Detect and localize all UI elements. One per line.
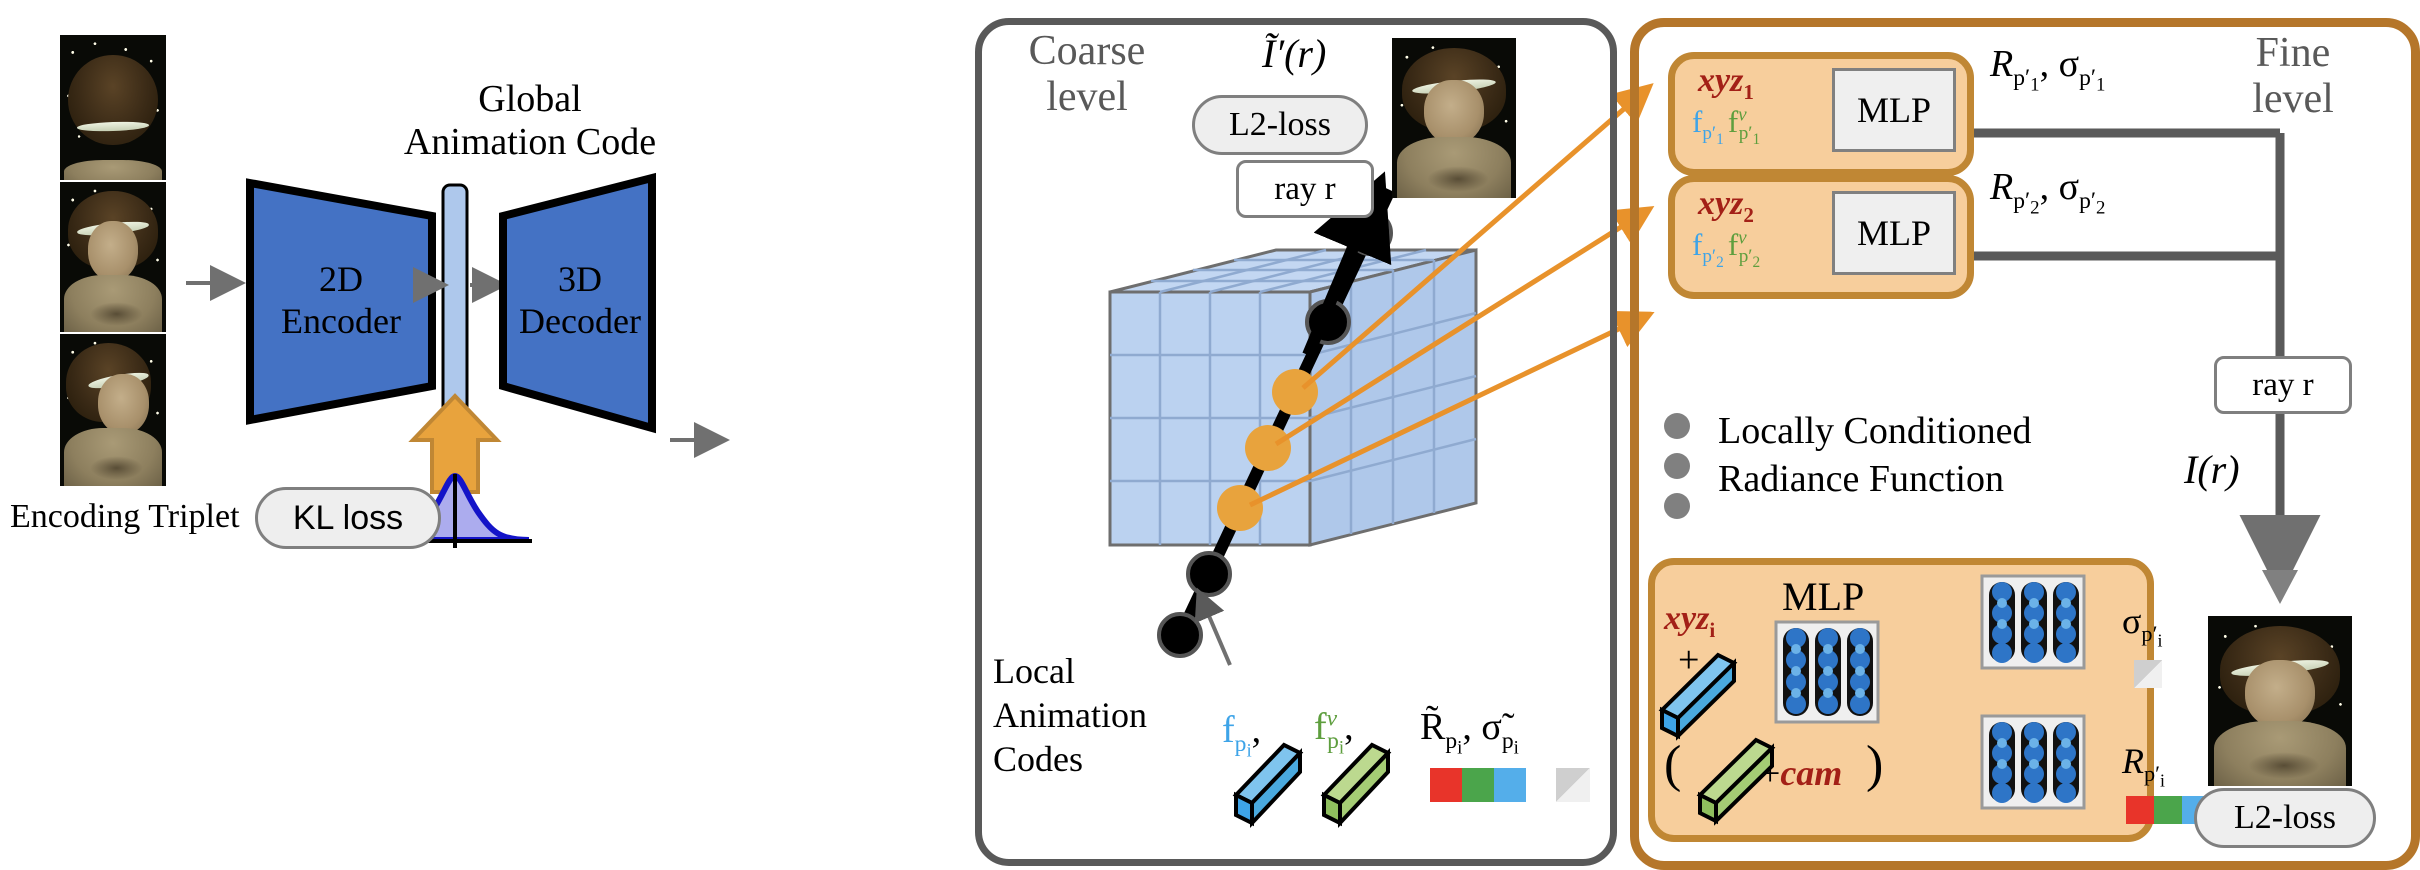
encoding-triplet-image-1: [60, 35, 166, 180]
fine-output-image: [2208, 616, 2352, 786]
encoder-line-1: 2D: [250, 258, 432, 300]
detail-radiance-output-label: Rp′i: [2122, 740, 2165, 792]
fine-card-1-features: fp′1fvp′1: [1692, 104, 1760, 149]
detail-mlp-title: MLP: [1782, 573, 1864, 620]
coarse-ray-box[interactable]: ray r: [1236, 160, 1374, 218]
lcrf-line-2: Radiance Function: [1718, 456, 2031, 504]
lcrf-line-1: Locally Conditioned: [1718, 408, 2031, 456]
density-sigma-swatch: [1556, 768, 1590, 802]
kl-loss-badge[interactable]: KL loss: [255, 487, 441, 549]
decoder-line-1: 3D: [505, 258, 655, 300]
feature-fv-symbol: fvpi,: [1314, 705, 1354, 759]
figure-canvas: Encoding Triplet: [0, 0, 2420, 870]
local-animation-codes-label: Local Animation Codes: [993, 650, 1147, 782]
detail-sigma-output-label: σp′i: [2122, 600, 2162, 652]
feature-f-symbol: fpi,: [1222, 708, 1261, 762]
radiance-rgb-swatch: [1430, 768, 1526, 802]
global-animation-code-bar: [443, 185, 467, 518]
locally-conditioned-radiance-function-label: Locally Conditioned Radiance Function: [1718, 408, 2031, 504]
fine-output-label-2: Rp′2, σp′2: [1990, 165, 2105, 219]
fine-ray-box[interactable]: ray r: [2214, 356, 2352, 414]
encoder-line-2: Encoder: [250, 300, 432, 342]
fine-title-line-2: level: [2208, 76, 2378, 122]
fine-card-2-mlp-box: MLP: [1832, 191, 1956, 275]
coarse-l2-loss-badge[interactable]: L2-loss: [1192, 95, 1368, 155]
decoder-line-2: Decoder: [505, 300, 655, 342]
coarse-output-image: [1392, 38, 1516, 198]
detail-close-paren: ): [1866, 735, 1883, 794]
encoding-triplet-image-2: [60, 182, 166, 332]
encoder-2d-label: 2D Encoder: [250, 258, 432, 343]
fine-card-1-xyz: xyz1: [1698, 62, 1754, 105]
fine-card-1-mlp-box: MLP: [1832, 68, 1956, 152]
decoder-3d-label: 3D Decoder: [505, 258, 655, 343]
local-codes-line-2: Animation: [993, 694, 1147, 738]
detail-plus-sign: +: [1678, 638, 1699, 682]
global-code-line-2: Animation Code: [300, 121, 760, 164]
coarse-title-line-1: Coarse: [992, 28, 1182, 74]
coarse-title-line-2: level: [992, 74, 1182, 120]
fine-l2-loss-badge[interactable]: L2-loss: [2194, 788, 2376, 848]
orange-up-arrow: [413, 396, 497, 492]
coarse-image-label: Ĩ′(r): [1262, 30, 1326, 77]
fine-title-line-1: Fine: [2208, 30, 2378, 76]
encoding-triplet-image-3: [60, 334, 166, 486]
global-code-line-1: Global: [300, 78, 760, 121]
detail-open-paren: (: [1664, 735, 1681, 794]
global-animation-code-label: Global Animation Code: [300, 78, 760, 165]
encoding-triplet-caption: Encoding Triplet: [10, 498, 240, 536]
fine-output-label-1: Rp′1, σp′1: [1990, 42, 2105, 96]
fine-level-title: Fine level: [2208, 30, 2378, 122]
fine-card-2-features: fp′2fvp′2: [1692, 227, 1760, 272]
coarse-level-title: Coarse level: [992, 28, 1182, 120]
fine-detail-card: [1648, 558, 2154, 842]
local-codes-line-1: Local: [993, 650, 1147, 694]
radiance-sigma-symbols: R̃pi, σ̃pi: [1420, 705, 1519, 759]
detail-density-swatch: [2134, 660, 2162, 688]
fine-image-label: I(r): [2184, 446, 2240, 493]
detail-xyz-label: xyzi: [1664, 600, 1715, 643]
fine-card-2-xyz: xyz2: [1698, 185, 1754, 228]
detail-plus-cam: +cam: [1760, 752, 1842, 794]
local-codes-line-3: Codes: [993, 738, 1147, 782]
